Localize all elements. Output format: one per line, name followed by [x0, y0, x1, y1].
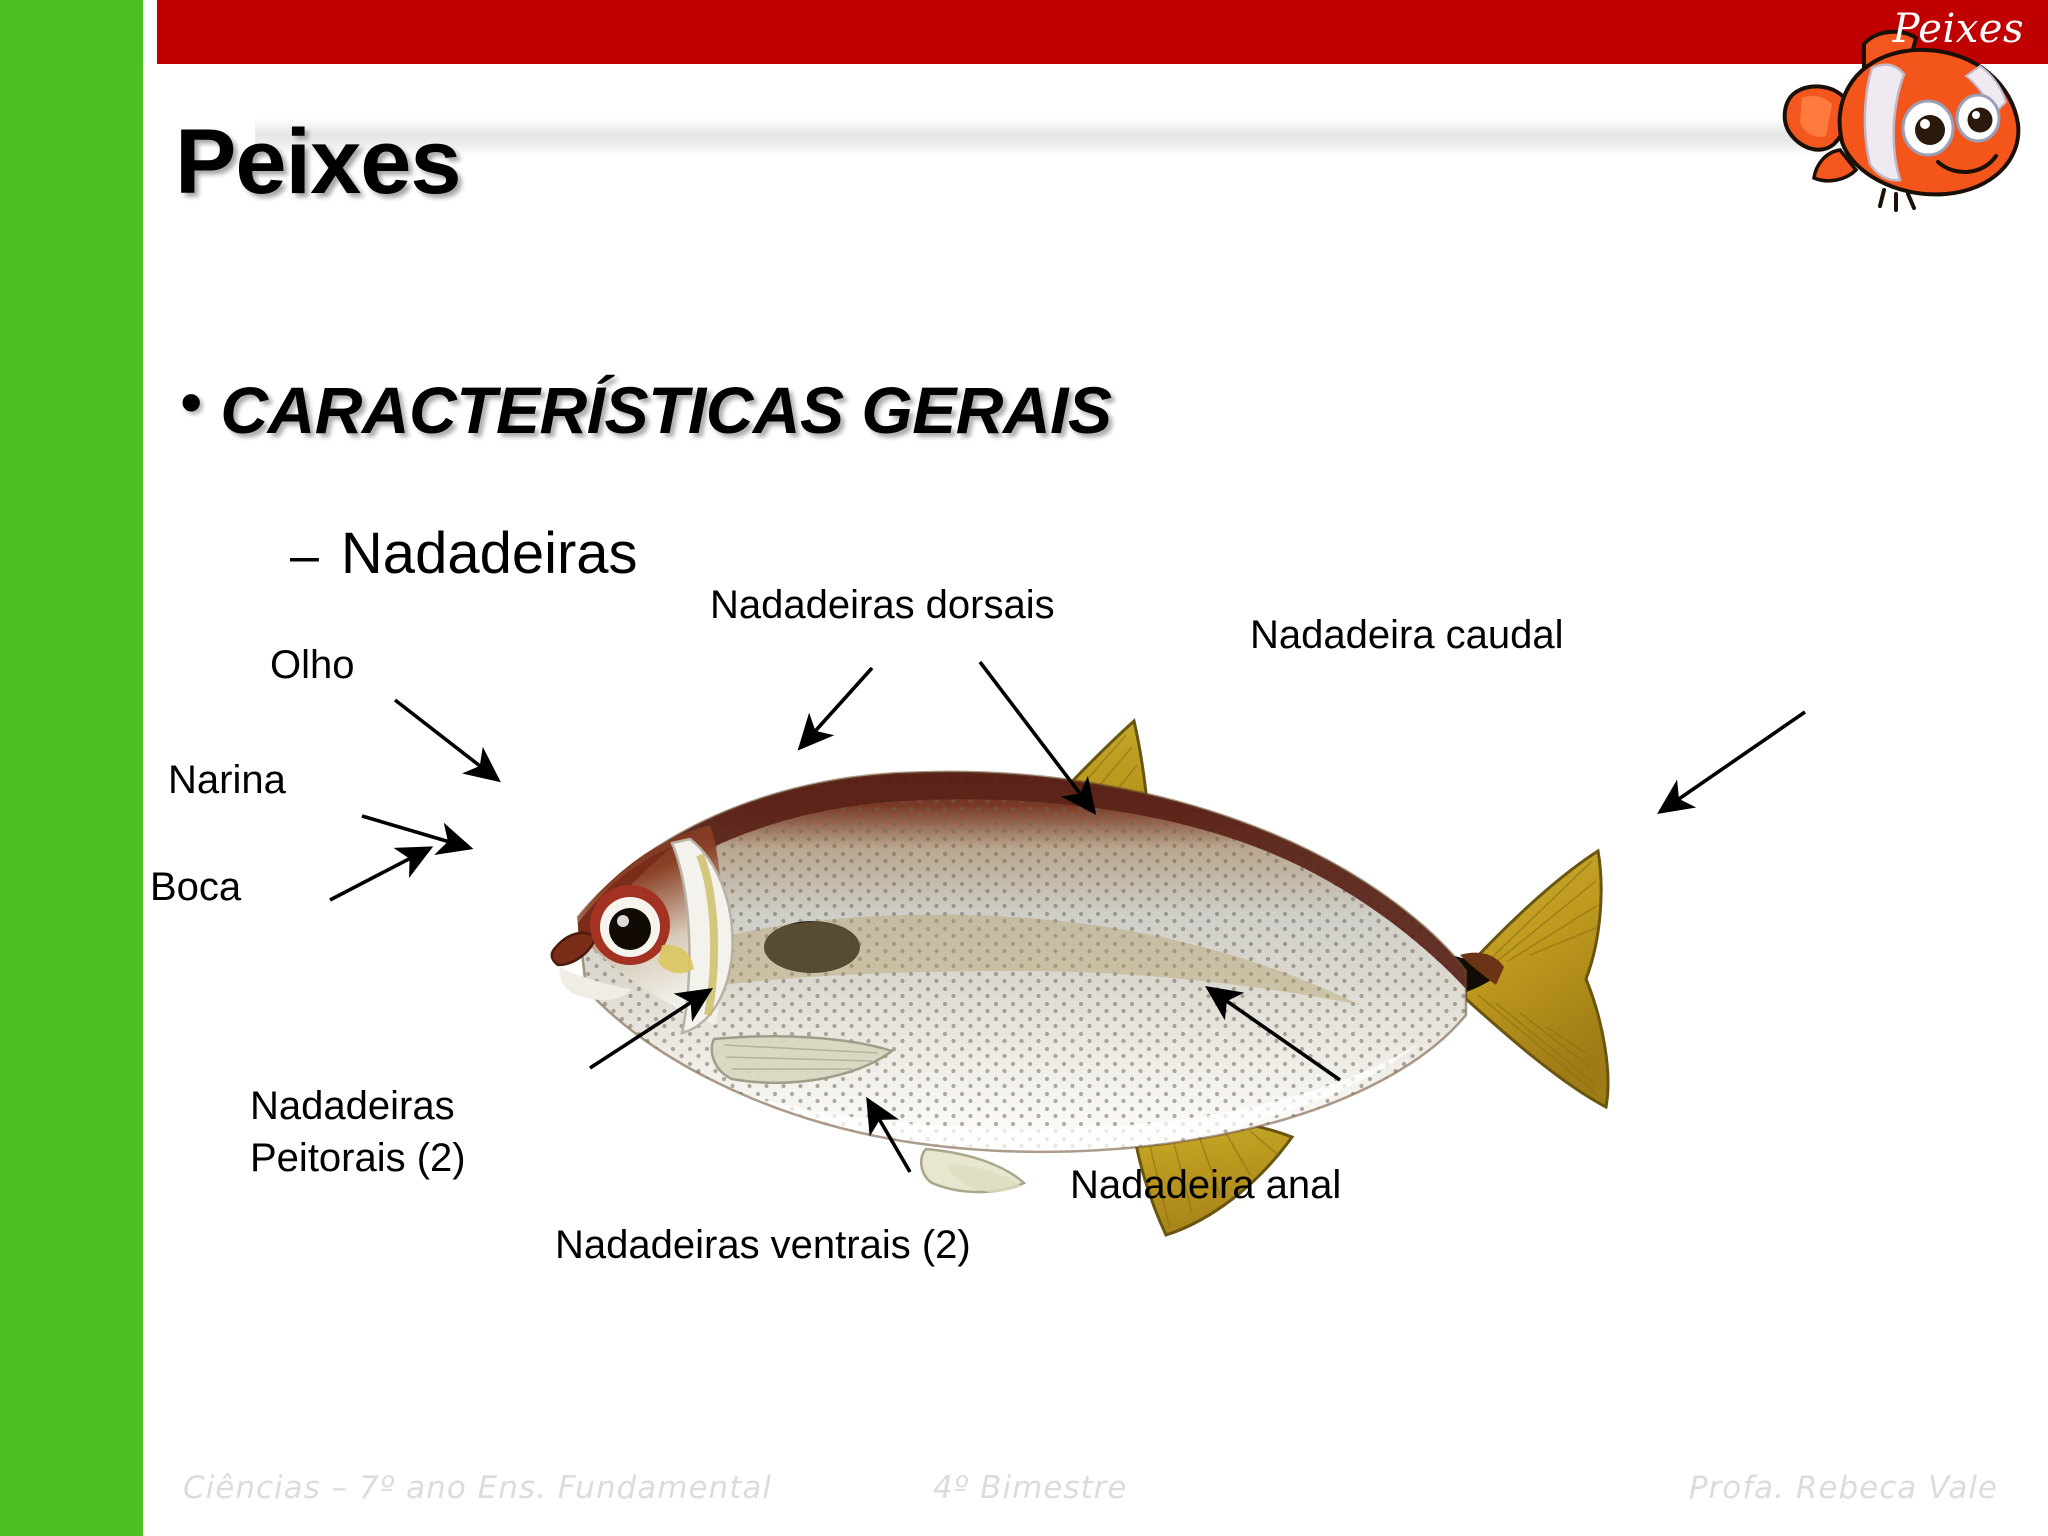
slide-canvas: Peixes Peixes — [0, 0, 2048, 1536]
footer-course: Ciências – 7º ano Ens. Fundamental — [183, 1470, 772, 1506]
page-title: Peixes — [175, 110, 461, 215]
bullet-level2: – Nadadeiras — [290, 520, 638, 587]
label-nadadeira-anal: Nadadeira anal — [1070, 1160, 1341, 1211]
label-nadadeira-caudal: Nadadeira caudal — [1250, 610, 1564, 661]
footer-term: 4º Bimestre — [933, 1470, 1127, 1506]
sub-bullet-marker-icon: – — [290, 526, 319, 586]
title-gradient-band — [255, 118, 1935, 156]
logo-label: Peixes — [1893, 6, 2024, 52]
left-green-accent-bar — [0, 0, 143, 1536]
label-nadadeiras-dorsais: Nadadeiras dorsais — [710, 580, 1055, 631]
bullet-marker-icon: • — [180, 372, 202, 433]
clownfish-icon — [1780, 22, 2030, 222]
bullet-level2-label: Nadadeiras — [341, 520, 638, 587]
slide-footer: Ciências – 7º ano Ens. Fundamental 4º Bi… — [143, 1458, 2048, 1518]
top-red-accent-bar — [157, 0, 2048, 64]
label-nadadeiras-peitorais-line1: Nadadeiras — [250, 1080, 466, 1132]
fish-illustration — [380, 655, 1690, 1275]
label-nadadeiras-ventrais: Nadadeiras ventrais (2) — [555, 1220, 971, 1271]
bullet-level1: • CARACTERÍSTICAS GERAIS — [180, 372, 1111, 448]
footer-teacher: Profa. Rebeca Vale — [1689, 1470, 1998, 1506]
bullet-level1-label: CARACTERÍSTICAS GERAIS — [220, 372, 1111, 448]
label-olho: Olho — [270, 640, 355, 691]
fish-anatomy-diagram: Nadadeiras dorsais Nadadeira caudal Olho… — [150, 600, 1950, 1440]
label-boca: Boca — [150, 862, 241, 913]
label-nadadeiras-peitorais-line2: Peitorais (2) — [250, 1132, 466, 1184]
logo-area: Peixes — [1780, 0, 2040, 230]
label-narina: Narina — [168, 755, 286, 806]
label-nadadeiras-peitorais: Nadadeiras Peitorais (2) — [250, 1080, 466, 1184]
